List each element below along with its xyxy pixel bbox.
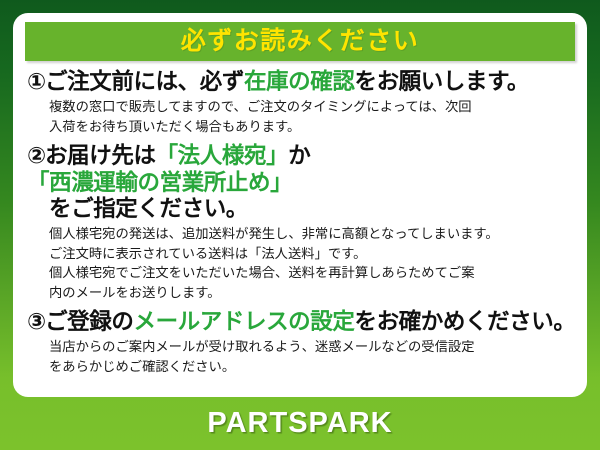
item-2-body-line-2: ご注文時に表示されている送料は「法人送料」です。: [49, 244, 573, 264]
item-3-body: 当店からのご案内メールが受け取れるよう、迷惑メールなどの受信設定 をあらかじめご…: [27, 337, 573, 377]
notice-card: 必ずお読みください ①ご注文前には、必ず在庫の確認をお願いします。 複数の窓口で…: [13, 13, 587, 397]
item-2-body-line-3: 個人様宅宛でご注文をいただいた場合、送料を再計算しあらためてご案: [49, 263, 573, 283]
notice-item-2: ②お届け先は「法人様宛」か「西濃運輸の営業所止め」 をご指定ください。 個人様宅…: [27, 143, 573, 303]
item-2-body: 個人様宅宛の発送は、追加送料が発生し、非常に高額となってしまいます。 ご注文時に…: [27, 224, 573, 304]
item-2-body-line-1: 個人様宅宛の発送は、追加送料が発生し、非常に高額となってしまいます。: [49, 224, 573, 244]
item-1-heading: ①ご注文前には、必ず在庫の確認をお願いします。: [27, 69, 573, 96]
notice-item-3: ③ご登録のメールアドレスの設定をお確かめください。 当店からのご案内メールが受け…: [27, 309, 573, 377]
item-1-body-line-2: 入荷をお待ち頂いただく場合もあります。: [49, 117, 573, 137]
item-2-heading-highlight-1: 「法人様宛」: [156, 143, 289, 168]
item-3-heading-part-0: ご登録の: [45, 309, 133, 334]
item-1-number: ①: [27, 69, 45, 94]
banner-title: 必ずお読みください: [181, 29, 420, 54]
item-1-heading-highlight: 在庫の確認: [244, 69, 355, 94]
notice-item-1: ①ご注文前には、必ず在庫の確認をお願いします。 複数の窓口で販売してますので、ご…: [27, 69, 573, 137]
footer-bar: PARTSPARK: [0, 397, 600, 450]
item-1-heading-part-0: ご注文前には、必ず: [45, 69, 244, 94]
item-2-number: ②: [27, 143, 45, 168]
notice-banner: 必ずお読みください: [25, 22, 575, 61]
brand-logo-text: PARTSPARK: [207, 409, 392, 438]
item-3-body-line-1: 当店からのご案内メールが受け取れるよう、迷惑メールなどの受信設定: [49, 337, 573, 357]
item-2-heading-part-2: か: [288, 143, 310, 168]
item-3-number: ③: [27, 309, 45, 334]
item-2-body-line-4: 内のメールをお送りします。: [49, 283, 573, 303]
item-1-body-line-1: 複数の窓口で販売してますので、ご注文のタイミングによっては、次回: [49, 97, 573, 117]
item-2-heading-part-0: お届け先は: [45, 143, 156, 168]
notice-items: ①ご注文前には、必ず在庫の確認をお願いします。 複数の窓口で販売してますので、ご…: [25, 69, 575, 377]
item-2-heading-line-2: をご指定ください。: [27, 196, 573, 223]
item-1-body: 複数の窓口で販売してますので、ご注文のタイミングによっては、次回 入荷をお待ち頂…: [27, 97, 573, 137]
item-2-heading-highlight-2: 「西濃運輸の営業所止め」: [27, 170, 292, 195]
item-1-heading-part-2: をお願いします。: [354, 69, 529, 94]
item-2-heading: ②お届け先は「法人様宛」か「西濃運輸の営業所止め」 をご指定ください。: [27, 143, 573, 223]
item-3-body-line-2: をあらかじめご確認ください。: [49, 357, 573, 377]
item-3-heading-part-2: をお確かめください。: [354, 309, 575, 334]
item-3-heading-highlight: メールアドレスの設定: [133, 309, 354, 334]
item-3-heading: ③ご登録のメールアドレスの設定をお確かめください。: [27, 309, 573, 336]
notice-panel: 必ずお読みください ①ご注文前には、必ず在庫の確認をお願いします。 複数の窓口で…: [0, 0, 600, 450]
